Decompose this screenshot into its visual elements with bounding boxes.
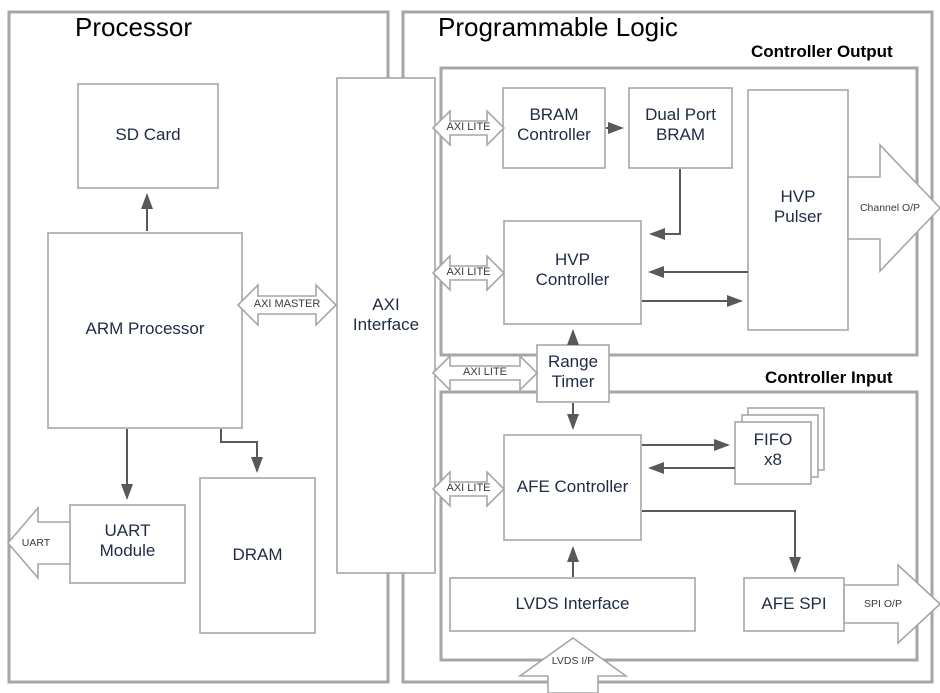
processor-title: Processor <box>75 12 192 43</box>
sd-card-box <box>78 84 218 188</box>
uart-port-arrow <box>8 508 70 578</box>
dual-port-bram-box <box>629 88 732 168</box>
afe-controller-box <box>504 435 641 540</box>
channel-output-arrow <box>848 145 940 271</box>
axi-lite-range-bus-arrow <box>433 356 537 390</box>
arm-processor-box <box>48 233 242 428</box>
block-diagram-root: Processor Programmable Logic Controller … <box>0 0 940 693</box>
spi-output-arrow <box>844 565 940 643</box>
controller-output-title: Controller Output <box>751 42 893 62</box>
fifo-box <box>735 422 811 484</box>
afe-spi-box <box>744 578 844 631</box>
hvp-pulser-box <box>748 90 848 330</box>
arrow-afectrl-to-afespi <box>642 511 795 571</box>
axi-master-bus-arrow <box>238 285 336 325</box>
programmable-logic-title: Programmable Logic <box>438 12 678 43</box>
axi-lite-afe-bus-arrow <box>433 472 504 506</box>
axi-lite-bram-bus-arrow <box>433 111 504 145</box>
uart-module-box <box>70 505 185 583</box>
hvp-controller-box <box>504 221 641 324</box>
axi-lite-hvp-bus-arrow <box>433 256 504 290</box>
diagram-vector-layer <box>0 0 940 693</box>
arrow-dpbram-to-hvpctrl <box>651 169 680 234</box>
lvds-interface-box <box>450 578 695 631</box>
arrow-arm-to-dram <box>221 429 257 471</box>
dram-box <box>200 478 315 633</box>
controller-input-title: Controller Input <box>765 368 892 388</box>
bram-controller-box <box>503 88 605 168</box>
axi-interface-box <box>337 78 435 573</box>
range-timer-box <box>537 345 609 402</box>
lvds-input-arrow <box>520 638 626 693</box>
